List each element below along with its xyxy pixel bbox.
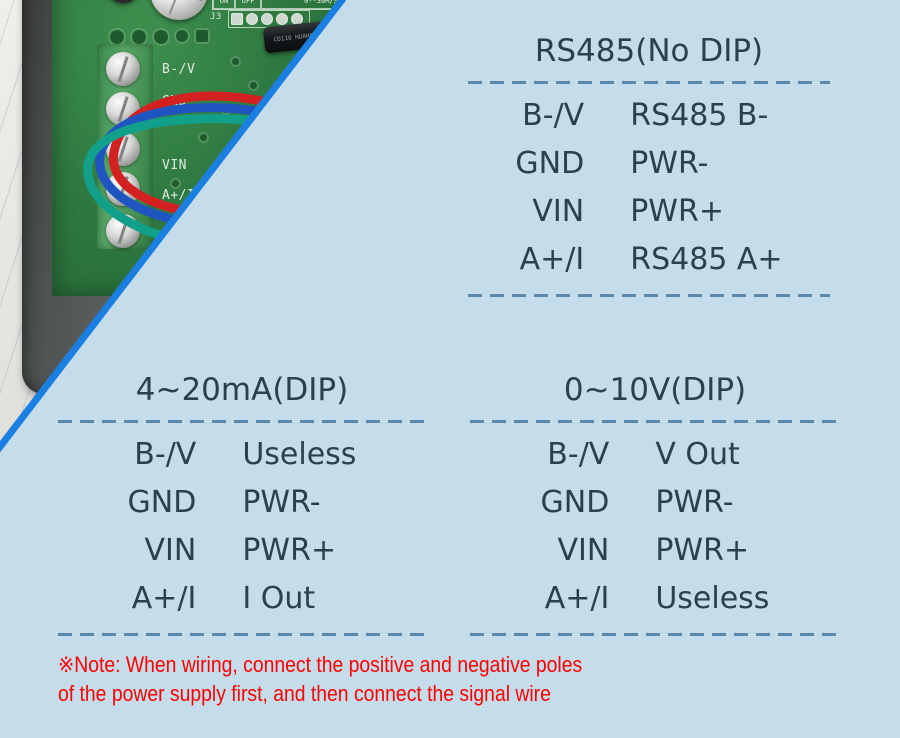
pin-function: PWR- (655, 479, 769, 527)
panel-title: RS485(No DIP) (468, 36, 830, 67)
panel-title: 4~20mA(DIP) (58, 375, 426, 406)
pin-function: PWR+ (242, 527, 356, 575)
green-wire (88, 119, 266, 248)
pin-function: V Out (655, 431, 769, 479)
pin-name: VIN (541, 527, 610, 575)
pin-name: A+/I (128, 575, 197, 623)
circuit-board: 3 4 RANGE ON ON 0--10M/S OFF ON 0--20M/S… (52, 0, 352, 296)
panel-rs485: RS485(No DIP) B-/V RS485 B- GND PWR- VIN… (468, 36, 830, 297)
pin-function: Useless (655, 575, 769, 623)
separator-top (58, 420, 426, 423)
pin-name: VIN (515, 188, 584, 236)
pinout-table: B-/V V Out GND PWR- VIN PWR+ A+/I Useles… (470, 431, 840, 623)
separator-top (470, 420, 840, 423)
pin-name: B-/V (541, 431, 610, 479)
pin-name: GND (541, 479, 610, 527)
pin-function: Useless (242, 431, 356, 479)
pin-name: B-/V (128, 431, 197, 479)
pin-name: GND (128, 479, 197, 527)
via-pad (212, 194, 219, 201)
pin-name: VIN (128, 527, 197, 575)
wiring-diagram-page: 3 4 RANGE ON ON 0--10M/S OFF ON 0--20M/S… (0, 0, 900, 738)
separator-bottom (470, 633, 840, 636)
pin-function: PWR- (242, 479, 356, 527)
pinout-table: B-/V RS485 B- GND PWR- VIN PWR+ A+/I RS4… (468, 92, 830, 284)
pin-name: B-/V (515, 92, 584, 140)
blue-wire (100, 108, 274, 227)
panel-current-loop: 4~20mA(DIP) B-/V Useless GND PWR- VIN PW… (58, 375, 426, 636)
pin-function: RS485 A+ (630, 236, 782, 284)
pin-name: A+/I (515, 236, 584, 284)
panel-title: 0~10V(DIP) (470, 375, 840, 406)
wiring-note: ※Note: When wiring, connect the positive… (58, 650, 762, 708)
pin-function: RS485 B- (630, 92, 782, 140)
pin-function: PWR+ (655, 527, 769, 575)
wire-bundle (52, 0, 352, 296)
pin-name: A+/I (541, 575, 610, 623)
pin-name: GND (515, 140, 584, 188)
pin-function: PWR- (630, 140, 782, 188)
pin-function: PWR+ (630, 188, 782, 236)
pin-function: I Out (242, 575, 356, 623)
separator-bottom (468, 294, 830, 297)
separator-bottom (58, 633, 426, 636)
panel-voltage: 0~10V(DIP) B-/V V Out GND PWR- VIN PWR+ … (470, 375, 840, 636)
pinout-table: B-/V Useless GND PWR- VIN PWR+ A+/I I Ou… (58, 431, 426, 623)
via-pad (248, 142, 255, 149)
separator-top (468, 81, 830, 84)
